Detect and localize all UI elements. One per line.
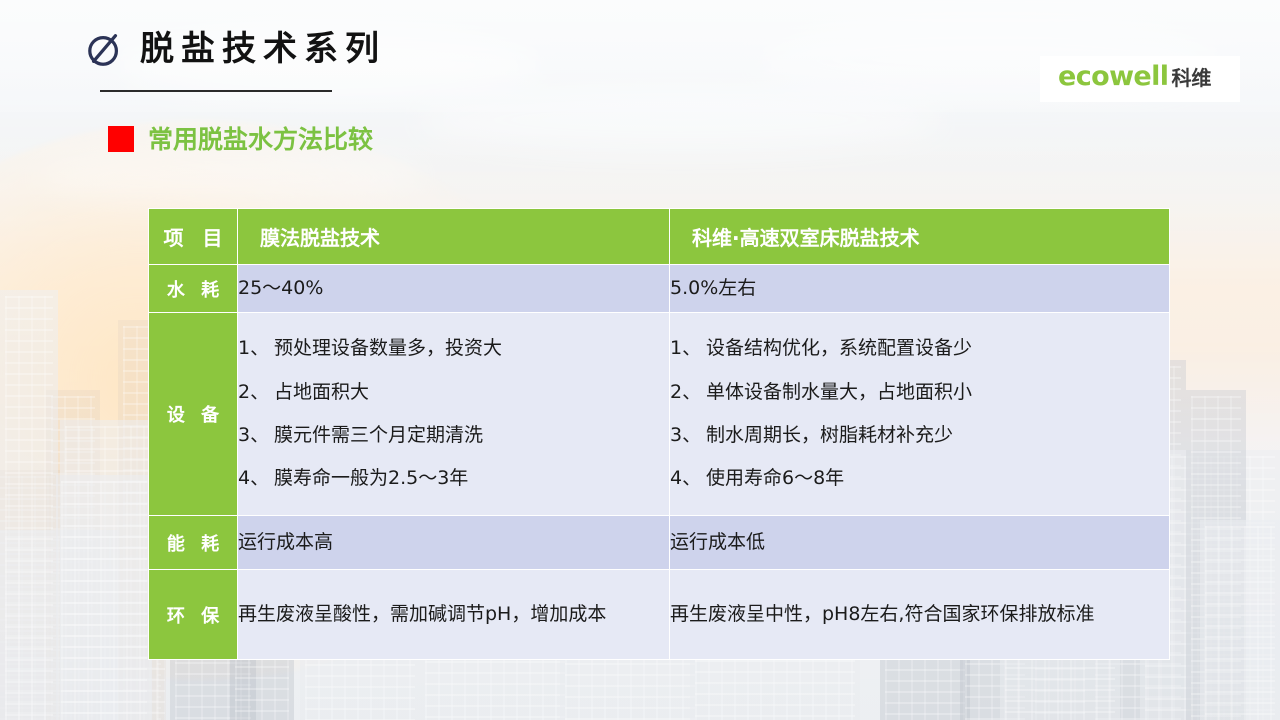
- list-item: 4、膜寿命一般为2.5～3年: [238, 457, 669, 500]
- section-subtitle-row: 常用脱盐水方法比较: [108, 126, 373, 152]
- list-item: 1、设备结构优化，系统配置设备少: [670, 327, 1169, 370]
- cell-energy-membrane: 运行成本高: [238, 516, 670, 570]
- table-header-row: 项 目 膜法脱盐技术 科维·高速双室床脱盐技术: [149, 209, 1170, 265]
- cell-equipment-membrane: 1、预处理设备数量多，投资大 2、占地面积大 3、膜元件需三个月定期清洗 4、膜…: [238, 313, 670, 516]
- table-row: 水 耗 25～40% 5.0%左右: [149, 265, 1170, 313]
- list-item-label: 单体设备制水量大，占地面积小: [706, 371, 1169, 414]
- comparison-table: 项 目 膜法脱盐技术 科维·高速双室床脱盐技术 水 耗 25～40% 5.0%左…: [148, 208, 1170, 660]
- list-item: 1、预处理设备数量多，投资大: [238, 327, 669, 370]
- list-item-number: 2、: [238, 371, 272, 414]
- table-row: 设 备 1、预处理设备数量多，投资大 2、占地面积大 3、膜元件需三个月定期清洗…: [149, 313, 1170, 516]
- list-item-number: 2、: [670, 371, 704, 414]
- brand-name-en: ecowell: [1058, 63, 1168, 90]
- slide-title-row: 脱盐技术系列: [86, 30, 386, 68]
- list-item-label: 占地面积大: [274, 371, 669, 414]
- title-underline: [100, 90, 332, 92]
- list-item-number: 1、: [670, 327, 704, 370]
- cell-environment-membrane: 再生废液呈酸性，需加碱调节pH，增加成本: [238, 570, 670, 660]
- list-item: 3、 制水周期长，树脂耗材补充少: [670, 414, 1169, 457]
- list-item-label: 制水周期长，树脂耗材补充少: [706, 414, 1169, 457]
- brand-name-cn: 科维: [1171, 68, 1211, 88]
- row-label-equipment: 设 备: [149, 313, 238, 516]
- page-title: 脱盐技术系列: [140, 32, 386, 66]
- bullet-list-equipment-membrane: 1、预处理设备数量多，投资大 2、占地面积大 3、膜元件需三个月定期清洗 4、膜…: [238, 327, 669, 500]
- brand-logo: ecowell 科维: [1058, 63, 1211, 90]
- cell-energy-ecowell: 运行成本低: [670, 516, 1170, 570]
- bullet-list-equipment-ecowell: 1、设备结构优化，系统配置设备少 2、单体设备制水量大，占地面积小 3、 制水周…: [670, 327, 1169, 500]
- section-subtitle: 常用脱盐水方法比较: [148, 127, 373, 152]
- row-label-energy: 能 耗: [149, 516, 238, 570]
- table-header-item: 项 目: [149, 209, 238, 265]
- list-item-label: 预处理设备数量多，投资大: [274, 327, 669, 370]
- table-row: 能 耗 运行成本高 运行成本低: [149, 516, 1170, 570]
- cell-equipment-ecowell: 1、设备结构优化，系统配置设备少 2、单体设备制水量大，占地面积小 3、 制水周…: [670, 313, 1170, 516]
- row-label-water: 水 耗: [149, 265, 238, 313]
- list-item-label: 使用寿命6～8年: [706, 457, 1169, 500]
- table-header-membrane: 膜法脱盐技术: [238, 209, 670, 265]
- cell-water-ecowell: 5.0%左右: [670, 265, 1170, 313]
- table-row: 环 保 再生废液呈酸性，需加碱调节pH，增加成本 再生废液呈中性，pH8左右,符…: [149, 570, 1170, 660]
- table-header-ecowell: 科维·高速双室床脱盐技术: [670, 209, 1170, 265]
- list-item-number: 3、: [238, 414, 272, 457]
- row-label-environment: 环 保: [149, 570, 238, 660]
- circle-slash-icon: [86, 30, 124, 68]
- slide-root: 脱盐技术系列 常用脱盐水方法比较 ecowell 科维 项 目 膜法脱盐技术 科…: [0, 0, 1280, 720]
- list-item: 3、膜元件需三个月定期清洗: [238, 414, 669, 457]
- list-item-label: 膜元件需三个月定期清洗: [274, 414, 669, 457]
- list-item: 4、使用寿命6～8年: [670, 457, 1169, 500]
- cell-water-membrane: 25～40%: [238, 265, 670, 313]
- cell-environment-ecowell: 再生废液呈中性，pH8左右,符合国家环保排放标准: [670, 570, 1170, 660]
- list-item-number: 4、: [670, 457, 704, 500]
- list-item-label: 设备结构优化，系统配置设备少: [706, 327, 1169, 370]
- list-item-number: 3、: [670, 414, 704, 457]
- list-item: 2、单体设备制水量大，占地面积小: [670, 371, 1169, 414]
- list-item: 2、占地面积大: [238, 371, 669, 414]
- list-item-number: 4、: [238, 457, 272, 500]
- list-item-label: 膜寿命一般为2.5～3年: [274, 457, 669, 500]
- red-square-marker-icon: [108, 126, 134, 152]
- list-item-number: 1、: [238, 327, 272, 370]
